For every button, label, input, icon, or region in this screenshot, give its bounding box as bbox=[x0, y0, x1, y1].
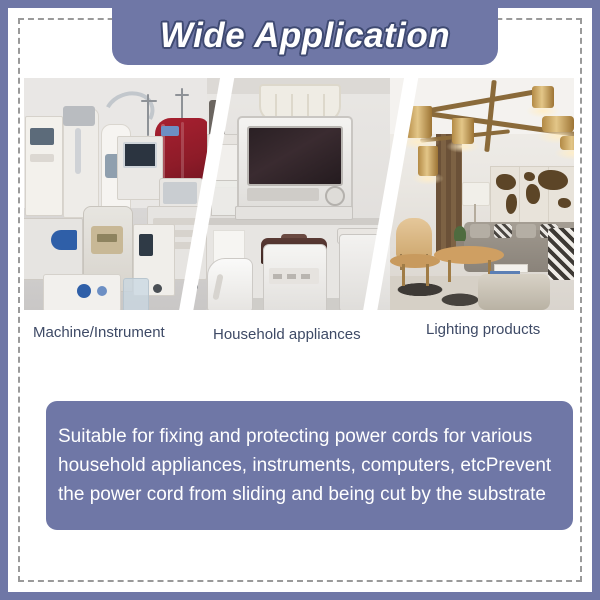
machine-screen bbox=[139, 234, 153, 256]
sofa-cushion bbox=[470, 224, 490, 238]
plant bbox=[454, 226, 466, 242]
cowhide-rug bbox=[390, 276, 490, 310]
control-knob bbox=[77, 284, 91, 298]
map-continent bbox=[524, 172, 535, 181]
machine-screen bbox=[30, 128, 54, 145]
gallery-strip bbox=[21, 78, 577, 310]
oven-control-panel bbox=[247, 188, 319, 201]
pole-hook bbox=[141, 100, 157, 102]
caption-household-appliances: Household appliances bbox=[213, 326, 361, 343]
canvas-divider bbox=[519, 167, 520, 225]
electric-kettle bbox=[207, 258, 253, 310]
sofa-cushion bbox=[516, 224, 536, 238]
armchair bbox=[396, 218, 432, 258]
map-continent bbox=[558, 198, 571, 208]
sofa-right-section bbox=[548, 228, 577, 280]
coffee-table bbox=[434, 246, 504, 264]
cylinder-lamp bbox=[452, 118, 474, 144]
table-leg bbox=[402, 264, 405, 286]
side-table bbox=[390, 254, 440, 268]
red-device-highlight bbox=[181, 122, 184, 186]
map-continent bbox=[526, 184, 540, 204]
machine-label bbox=[97, 234, 117, 242]
page-surface: Wide Application bbox=[8, 8, 592, 592]
machine-label bbox=[30, 154, 54, 162]
oven-glass-door bbox=[247, 126, 343, 186]
map-continent bbox=[496, 174, 516, 190]
machine-photo bbox=[21, 78, 207, 310]
machine-arm bbox=[75, 128, 81, 174]
rice-cooker-button bbox=[301, 274, 310, 279]
pole-hook bbox=[175, 94, 189, 96]
gallery-panel-household-appliances bbox=[207, 78, 390, 310]
strip-edge bbox=[21, 78, 24, 310]
appliance-photo bbox=[207, 78, 390, 310]
caster-wheel bbox=[153, 284, 162, 293]
outer-frame: Wide Application bbox=[0, 0, 600, 600]
machine-head bbox=[63, 106, 95, 126]
machine-screen bbox=[123, 142, 157, 168]
cylinder-lamp bbox=[418, 146, 438, 176]
oven-base-tray bbox=[235, 206, 353, 220]
monitor-screen bbox=[163, 182, 197, 204]
caption-machine-instrument: Machine/Instrument bbox=[33, 324, 165, 341]
disc-lamp bbox=[542, 116, 574, 132]
description-box: Suitable for fixing and protecting power… bbox=[46, 401, 573, 530]
cylinder-lamp bbox=[532, 86, 554, 108]
glass-jar bbox=[123, 278, 149, 310]
gallery-panel-machine-instrument bbox=[21, 78, 207, 310]
strip-edge bbox=[574, 78, 577, 310]
sofa-pillow bbox=[494, 224, 512, 238]
ottoman bbox=[478, 274, 550, 310]
title-banner: Wide Application bbox=[112, 0, 498, 65]
table-leg bbox=[448, 260, 451, 282]
lighting-photo bbox=[390, 78, 577, 310]
table-leg bbox=[426, 264, 429, 286]
rice-cooker-button bbox=[287, 274, 296, 279]
map-continent bbox=[538, 170, 568, 190]
control-knob bbox=[97, 286, 107, 296]
red-device-badge bbox=[161, 126, 179, 136]
oven-dial bbox=[325, 186, 345, 206]
floor-lamp-shade bbox=[462, 182, 490, 206]
caption-lighting-products: Lighting products bbox=[426, 321, 540, 338]
gallery-panel-lighting-products bbox=[390, 78, 577, 310]
description-text: Suitable for fixing and protecting power… bbox=[46, 422, 573, 509]
page-title: Wide Application bbox=[160, 8, 450, 56]
rice-cooker-button bbox=[273, 274, 282, 279]
blue-accent-panel bbox=[51, 230, 77, 250]
